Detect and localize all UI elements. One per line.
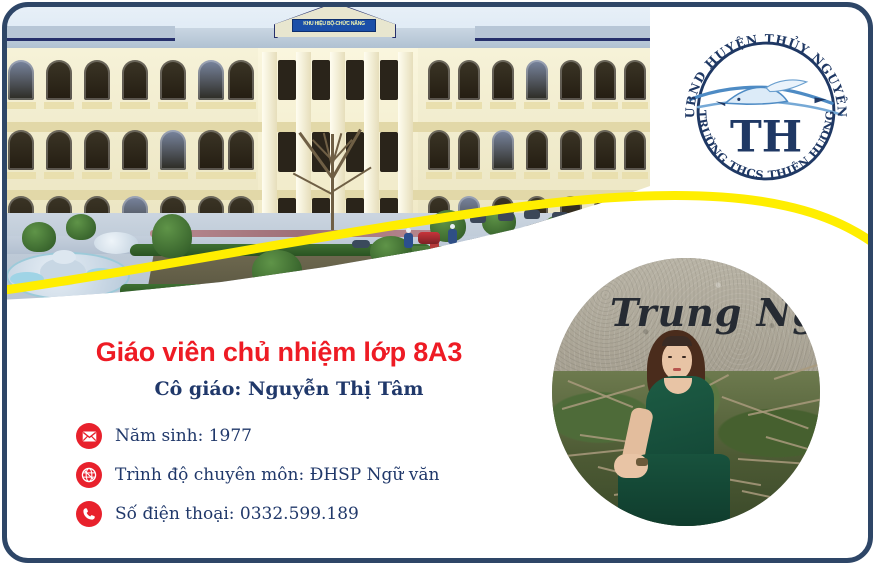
photo-ground-object-1 (216, 288, 226, 295)
tree-right-3 (540, 214, 586, 254)
teacher-portrait: d Trung Ng (552, 258, 820, 526)
fountain-water-right (86, 268, 116, 280)
photo-window-lintel (226, 102, 256, 109)
fountain-water-left (10, 272, 44, 286)
photo-window-lintel (456, 172, 482, 179)
photo-window-lintel (196, 172, 226, 179)
bare-tree-branch (293, 172, 333, 195)
teacher-name: Cô giáo: Nguyễn Thị Tâm (6, 376, 546, 402)
photo-arch-window (122, 130, 148, 170)
tree-mid-left (152, 214, 192, 258)
photo-arch-window (560, 196, 582, 240)
photo-window-lintel (226, 172, 256, 179)
photo-arch-window (458, 130, 480, 170)
fountain-tier-2 (52, 250, 76, 264)
tree-left-2 (66, 214, 96, 240)
person-body (404, 233, 413, 248)
tree-right-4 (600, 216, 644, 254)
photo-window-lintel (490, 172, 516, 179)
photo-window-lintel (158, 102, 188, 109)
figure-watch-icon (636, 458, 648, 466)
school-logo: TH UBND HUYỆN THỦY NGUYÊN TRƯỜNG THCS TH… (669, 14, 863, 208)
bare-tree (272, 118, 392, 230)
photo-arch-window (594, 60, 616, 100)
photo-arch-window (198, 130, 224, 170)
photo-window-lintel (456, 102, 482, 109)
photo-person (404, 228, 413, 248)
list-item: Số điện thoại: 0332.599.189 (76, 496, 546, 532)
logo-monogram: TH (730, 113, 802, 163)
bare-tree-branch (331, 134, 334, 230)
photo-window-lintel (120, 102, 150, 109)
photo-bicycle (352, 240, 370, 248)
photo-window-lintel (158, 172, 188, 179)
photo-arch-window (228, 60, 254, 100)
photo-arch-window (526, 130, 548, 170)
photo-arch-window (160, 130, 186, 170)
figure-face (662, 342, 692, 380)
contact-list: Năm sinh: 1977 Trình độ chuyên môn: ĐHSP… (6, 418, 546, 532)
photo-arch-window (428, 130, 450, 170)
photo-arch-window (228, 130, 254, 170)
hedge-bottom (120, 284, 440, 298)
figure-sunglasses-icon (662, 336, 692, 346)
contact-text: Năm sinh: 1977 (115, 425, 252, 447)
photo-arch-window (198, 60, 224, 100)
portrait-stone-text-left: d (552, 330, 556, 357)
photo-center-opening (380, 60, 398, 100)
photo-arch-window (594, 130, 616, 170)
photo-arch-window (624, 60, 646, 100)
photo-window-lintel (490, 242, 516, 249)
photo-window-lintel (622, 102, 648, 109)
garden-bed-right (402, 246, 532, 286)
page-title: Giáo viên chủ nhiệm lớp 8A3 (6, 336, 546, 368)
photo-window-lintel (82, 102, 112, 109)
photo-window-lintel (622, 242, 648, 249)
photo-window-lintel (622, 172, 648, 179)
photo-window-lintel (426, 102, 452, 109)
teacher-info-card: KHU HIỆU BỘ-CHỨC NĂNG (0, 0, 875, 565)
photo-window-lintel (196, 102, 226, 109)
list-item: Năm sinh: 1977 (76, 418, 546, 454)
photo-arch-window (46, 130, 72, 170)
photo-arch-window (624, 130, 646, 170)
list-item: Trình độ chuyên môn: ĐHSP Ngữ văn (76, 457, 546, 493)
photo-window-lintel (558, 102, 584, 109)
teacher-info-text: Giáo viên chủ nhiệm lớp 8A3 Cô giáo: Ngu… (6, 336, 546, 535)
photo-window-lintel (524, 102, 550, 109)
photo-arch-window (160, 60, 186, 100)
photo-arch-window (8, 130, 34, 170)
photo-window-lintel (524, 242, 550, 249)
photo-arch-window (46, 60, 72, 100)
globe-icon (76, 462, 102, 488)
photo-roof-right (475, 26, 650, 41)
photo-arch-window (8, 60, 34, 100)
photo-window-lintel (6, 102, 36, 109)
phone-icon (76, 501, 102, 527)
tree-center-low (252, 250, 302, 290)
tree-right-2 (482, 206, 516, 236)
photo-center-opening (312, 60, 330, 100)
photo-window-lintel (6, 172, 36, 179)
photo-parked-bike (552, 212, 568, 221)
photo-window-lintel (490, 102, 516, 109)
card-stage: KHU HIỆU BỘ-CHỨC NĂNG (6, 6, 869, 559)
photo-arch-window (122, 60, 148, 100)
photo-window-lintel (456, 242, 482, 249)
photo-arch-window (428, 60, 450, 100)
photo-arch-window (624, 196, 646, 240)
photo-arch-window (526, 60, 548, 100)
contact-text: Trình độ chuyên môn: ĐHSP Ngữ văn (115, 464, 439, 486)
photo-arch-window (492, 60, 514, 100)
photo-parked-bike (470, 214, 486, 223)
photo-window-lintel (44, 102, 74, 109)
building-sign-text: KHU HIỆU BỘ-CHỨC NĂNG (293, 20, 375, 29)
photo-window-lintel (120, 172, 150, 179)
photo-window-lintel (524, 172, 550, 179)
envelope-icon (76, 423, 102, 449)
photo-roof-left (6, 26, 175, 41)
photo-window-lintel (592, 242, 618, 249)
photo-arch-window (560, 60, 582, 100)
photo-window-lintel (592, 102, 618, 109)
photo-motorbike-1 (418, 232, 440, 244)
photo-arch-window (84, 130, 110, 170)
figure-eye-right (682, 356, 686, 358)
photo-ground-object-2 (328, 276, 336, 282)
figure-eye-left (668, 356, 672, 358)
photo-arch-window (594, 196, 616, 240)
contact-text: Số điện thoại: 0332.599.189 (115, 503, 359, 525)
building-sign: KHU HIỆU BỘ-CHỨC NĂNG (292, 19, 376, 32)
photo-parked-bike (524, 210, 540, 219)
photo-window-lintel (82, 172, 112, 179)
photo-parked-bike (498, 212, 514, 221)
photo-arch-window (458, 60, 480, 100)
photo-window-lintel (558, 242, 584, 249)
photo-window-lintel (426, 172, 452, 179)
tree-palm-left (22, 222, 56, 252)
school-building-photo: KHU HIỆU BỘ-CHỨC NĂNG (6, 6, 650, 300)
photo-parked-bike (580, 210, 596, 219)
photo-parked-bike (606, 212, 622, 221)
photo-window-lintel (44, 172, 74, 179)
photo-window-lintel (592, 172, 618, 179)
figure-mouth (673, 368, 681, 371)
photo-window-lintel (558, 172, 584, 179)
photo-center-opening (346, 60, 364, 100)
person-body (448, 229, 457, 244)
photo-person (448, 224, 457, 244)
portrait-stone-text: Trung Ng (610, 290, 820, 335)
photo-arch-window (84, 60, 110, 100)
photo-arch-window (560, 130, 582, 170)
photo-arch-window (492, 130, 514, 170)
photo-center-opening (278, 60, 296, 100)
